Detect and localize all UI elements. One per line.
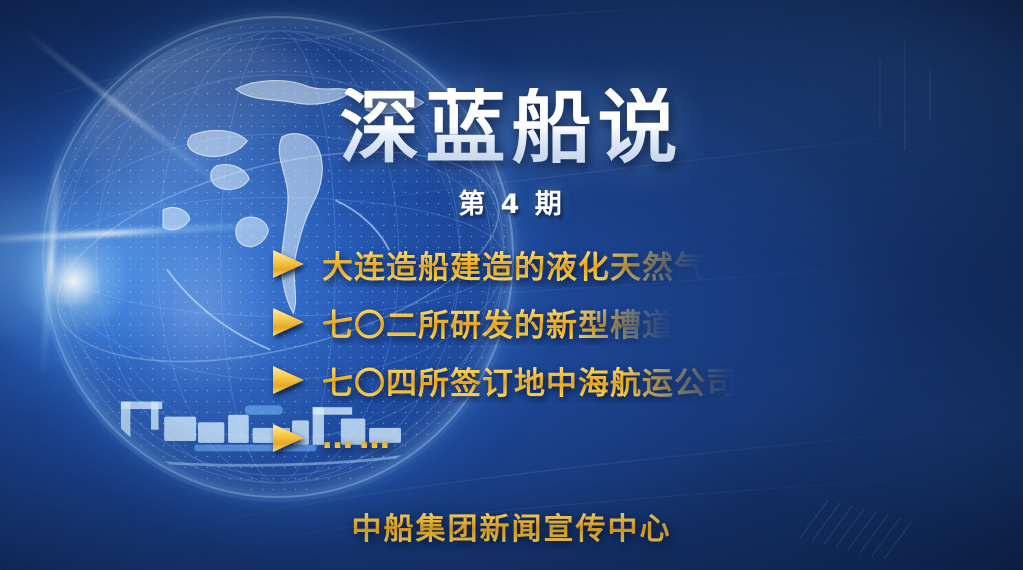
program-title: 深蓝船说 bbox=[0, 88, 1023, 168]
play-triangle-icon bbox=[270, 364, 306, 396]
list-item: 七〇四所签订地中海航运公司 bbox=[270, 352, 830, 408]
broadcast-title-card: 深蓝船说 第 4 期 大连造船建造的液化天然气 bbox=[0, 0, 1023, 570]
list-item: 大连造船建造的液化天然气 bbox=[270, 236, 830, 292]
title-card-content: 深蓝船说 第 4 期 大连造船建造的液化天然气 bbox=[0, 0, 1023, 570]
topic-text: …… bbox=[322, 420, 396, 456]
producer-credit: 中船集团新闻宣传中心 bbox=[0, 504, 1023, 548]
program-episode-subtitle: 第 4 期 bbox=[0, 182, 1023, 221]
topic-list: 大连造船建造的液化天然气 七〇二所研发的新型槽道 七〇四所签订地中海航运公司 …… bbox=[270, 236, 830, 468]
play-triangle-icon bbox=[270, 422, 306, 454]
list-item: …… bbox=[270, 410, 830, 466]
topic-text: 大连造船建造的液化天然气 bbox=[322, 242, 706, 287]
play-triangle-icon bbox=[270, 306, 306, 338]
play-triangle-icon bbox=[270, 248, 306, 280]
list-item: 七〇二所研发的新型槽道 bbox=[270, 294, 830, 350]
topic-text: 七〇二所研发的新型槽道 bbox=[322, 300, 674, 345]
topic-text: 七〇四所签订地中海航运公司 bbox=[322, 358, 738, 403]
